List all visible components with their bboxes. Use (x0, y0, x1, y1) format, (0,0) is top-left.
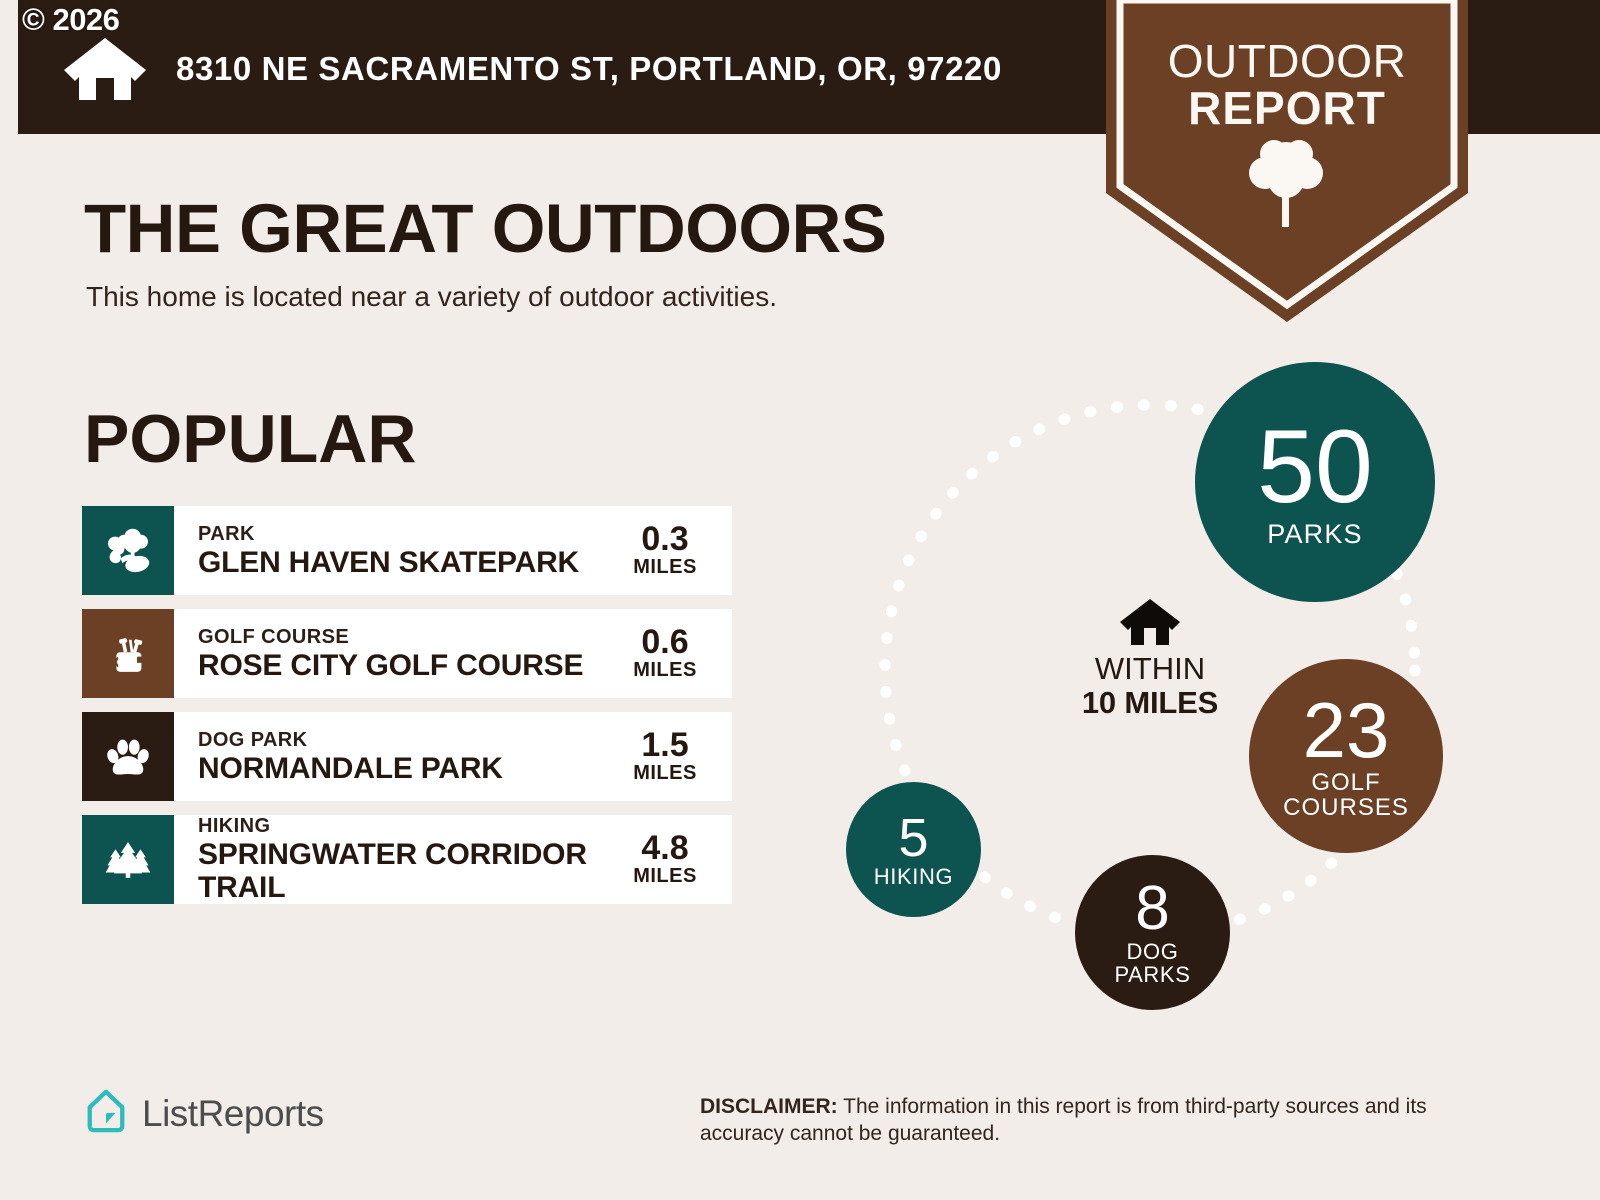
list-item[interactable]: GOLF COURSE ROSE CITY GOLF COURSE 0.6 MI… (82, 609, 732, 698)
list-item-distance: 1.5 (610, 729, 720, 762)
list-item-unit: MILES (610, 762, 720, 785)
list-item-unit: MILES (610, 865, 720, 888)
disclaimer-label: DISCLAIMER: (700, 1095, 838, 1118)
stat-circle-golf-courses[interactable]: 23 GOLF COURSES (1249, 659, 1443, 853)
list-item-category: PARK (198, 523, 610, 545)
listreports-logo-text: ListReports (142, 1093, 324, 1135)
list-item-name: NORMANDALE PARK (198, 752, 610, 785)
within-line1: WITHIN (1095, 651, 1205, 686)
popular-list: PARK GLEN HAVEN SKATEPARK 0.3 MILES (82, 506, 732, 918)
page-subtitle: This home is located near a variety of o… (86, 281, 777, 313)
park-trees-icon (82, 506, 174, 595)
listreports-house-icon (84, 1088, 128, 1139)
list-item-unit: MILES (610, 659, 720, 682)
amenity-circle-cluster: 50 PARKS 23 GOLF COURSES 8 DOG PARKS 5 H… (830, 350, 1470, 1010)
stat-value: 50 (1257, 415, 1373, 519)
list-item-category: DOG PARK (198, 729, 610, 751)
property-address: 8310 NE SACRAMENTO ST, PORTLAND, OR, 972… (176, 50, 1002, 88)
page-title: THE GREAT OUTDOORS (84, 189, 886, 268)
disclaimer: DISCLAIMER: The information in this repo… (700, 1093, 1490, 1147)
golf-bag-icon (82, 609, 174, 698)
badge-title: OUTDOOR REPORT (1106, 38, 1468, 132)
list-item-distance: 4.8 (610, 832, 720, 865)
stat-label: DOG (1115, 941, 1191, 964)
list-item-name: ROSE CITY GOLF COURSE (198, 649, 610, 682)
list-item[interactable]: DOG PARK NORMANDALE PARK 1.5 MILES (82, 712, 732, 801)
stat-label-line2: COURSES (1283, 796, 1409, 821)
badge-title-line2: REPORT (1106, 85, 1468, 132)
list-item[interactable]: HIKING SPRINGWATER CORRIDOR TRAIL 4.8 MI… (82, 815, 732, 904)
popular-heading: POPULAR (84, 400, 416, 478)
home-icon (62, 36, 148, 102)
list-item-name: GLEN HAVEN SKATEPARK (198, 546, 610, 579)
outdoor-report-badge: OUTDOOR REPORT (1106, 0, 1468, 322)
within-line2: 10 MILES (1025, 686, 1275, 720)
stat-value: 8 (1135, 878, 1169, 940)
stat-label-line2: PARKS (1115, 964, 1191, 987)
list-item-unit: MILES (610, 556, 720, 579)
stat-label: GOLF (1283, 771, 1409, 796)
pine-trees-icon (82, 815, 174, 904)
stat-circle-hiking[interactable]: 5 HIKING (846, 782, 981, 917)
badge-title-line1: OUTDOOR (1168, 35, 1407, 87)
list-item-distance: 0.3 (610, 523, 720, 556)
stat-label: HIKING (874, 866, 953, 889)
list-item[interactable]: PARK GLEN HAVEN SKATEPARK 0.3 MILES (82, 506, 732, 595)
cluster-center: WITHIN 10 MILES (1025, 598, 1275, 720)
list-item-category: HIKING (198, 815, 610, 837)
paw-print-icon (82, 712, 174, 801)
within-label: WITHIN 10 MILES (1025, 652, 1275, 720)
list-item-category: GOLF COURSE (198, 626, 610, 648)
stat-label: PARKS (1267, 521, 1363, 549)
home-icon (1119, 598, 1181, 646)
stat-circle-parks[interactable]: 50 PARKS (1195, 362, 1435, 602)
list-item-distance: 0.6 (610, 626, 720, 659)
copyright-label: © 2026 (22, 2, 119, 38)
listreports-logo[interactable]: ListReports (84, 1088, 324, 1139)
list-item-name: SPRINGWATER CORRIDOR TRAIL (198, 838, 610, 904)
stat-circle-dog-parks[interactable]: 8 DOG PARKS (1075, 855, 1230, 1010)
stat-value: 5 (898, 811, 928, 865)
stat-value: 23 (1303, 691, 1390, 769)
